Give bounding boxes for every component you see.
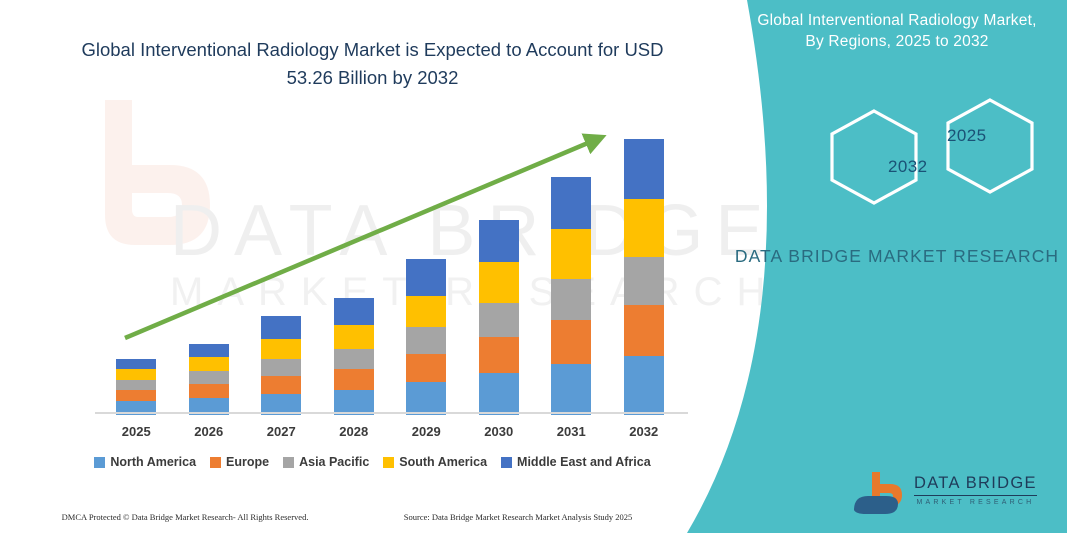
bar-segment [116, 359, 156, 369]
bar-segment [624, 139, 664, 199]
bar-segment [261, 316, 301, 339]
x-axis-labels: 20252026202720282029203020312032 [100, 424, 680, 444]
legend-item[interactable]: North America [94, 455, 196, 469]
bar-segment [624, 356, 664, 415]
legend-swatch-icon [94, 457, 105, 468]
bar-segment [189, 357, 229, 371]
stacked-bar-chart [100, 120, 680, 415]
bar-segment [261, 359, 301, 376]
panel-brand-name: DATA BRIDGE MARKET RESEARCH [727, 243, 1067, 269]
hexagon-label-2025: 2025 [947, 126, 986, 146]
bar-column-2030[interactable] [479, 120, 519, 415]
side-panel: Global Interventional Radiology Market, … [687, 0, 1067, 533]
footer-bar: DMCA Protected © Data Bridge Market Rese… [0, 507, 694, 527]
x-axis-label-2030: 2030 [479, 424, 519, 444]
bar-segment [334, 349, 374, 369]
legend-label: Asia Pacific [299, 455, 369, 469]
bar-segment [406, 382, 446, 415]
legend-item[interactable]: Asia Pacific [283, 455, 369, 469]
bar-column-2027[interactable] [261, 120, 301, 415]
x-axis-label-2029: 2029 [406, 424, 446, 444]
bar-segment [189, 344, 229, 357]
data-bridge-logo-icon [852, 470, 910, 518]
x-axis-label-2028: 2028 [334, 424, 374, 444]
hexagon-badges: 2025 2032 [742, 95, 1062, 205]
bar-segment [551, 364, 591, 415]
bar-segment [406, 354, 446, 382]
bar-segment [189, 384, 229, 398]
x-axis-line [95, 412, 688, 414]
bar-segment [261, 339, 301, 359]
bar-segment [334, 298, 374, 325]
legend-item[interactable]: Middle East and Africa [501, 455, 651, 469]
bar-segment [479, 337, 519, 373]
bar-segment [624, 199, 664, 257]
bar-segment [406, 327, 446, 354]
bar-segment [624, 257, 664, 305]
logo-tagline: MARKET RESEARCH [914, 499, 1037, 506]
bar-segment [116, 380, 156, 390]
infographic-canvas: DATA BRIDGE MARKET RESEARCH Global Inter… [0, 0, 1067, 533]
bar-segment [189, 371, 229, 384]
bar-segment [479, 220, 519, 262]
bar-segment [334, 325, 374, 349]
bar-segment [406, 296, 446, 327]
x-axis-label-2031: 2031 [551, 424, 591, 444]
hexagon-outline-icon [742, 95, 1062, 205]
bar-column-2028[interactable] [334, 120, 374, 415]
x-axis-label-2026: 2026 [189, 424, 229, 444]
bar-segment [624, 305, 664, 356]
x-axis-label-2032: 2032 [624, 424, 664, 444]
bar-column-2031[interactable] [551, 120, 591, 415]
chart-legend: North AmericaEuropeAsia PacificSouth Ame… [60, 455, 685, 469]
logo-name: DATA BRIDGE [914, 474, 1037, 496]
panel-title: Global Interventional Radiology Market, … [747, 10, 1047, 53]
bar-segment [551, 320, 591, 364]
legend-label: North America [110, 455, 196, 469]
legend-swatch-icon [501, 457, 512, 468]
bar-segment [551, 279, 591, 320]
chart-plot-area [100, 120, 680, 415]
bar-segment [479, 262, 519, 303]
bar-column-2026[interactable] [189, 120, 229, 415]
bar-segment [479, 303, 519, 337]
x-axis-label-2027: 2027 [261, 424, 301, 444]
bar-segment [261, 376, 301, 394]
footer-source: Source: Data Bridge Market Research Mark… [404, 512, 633, 522]
legend-item[interactable]: South America [383, 455, 487, 469]
bar-column-2032[interactable] [624, 120, 664, 415]
bar-segment [551, 177, 591, 229]
legend-label: Europe [226, 455, 269, 469]
legend-swatch-icon [383, 457, 394, 468]
bar-segment [479, 373, 519, 415]
legend-swatch-icon [210, 457, 221, 468]
bar-column-2029[interactable] [406, 120, 446, 415]
hexagon-label-2032: 2032 [888, 157, 927, 177]
legend-swatch-icon [283, 457, 294, 468]
logo-wordmark: DATA BRIDGE MARKET RESEARCH [914, 474, 1037, 506]
bar-segment [116, 390, 156, 401]
bar-segment [551, 229, 591, 279]
legend-label: South America [399, 455, 487, 469]
x-axis-label-2025: 2025 [116, 424, 156, 444]
bar-column-2025[interactable] [116, 120, 156, 415]
brand-logo: DATA BRIDGE MARKET RESEARCH [852, 468, 1052, 520]
footer-copyright: DMCA Protected © Data Bridge Market Rese… [62, 512, 309, 522]
legend-label: Middle East and Africa [517, 455, 651, 469]
page-title: Global Interventional Radiology Market i… [60, 36, 685, 92]
legend-item[interactable]: Europe [210, 455, 269, 469]
hexagon-2025-shape [948, 100, 1032, 192]
bar-segment [334, 369, 374, 390]
bar-segment [116, 369, 156, 380]
bar-segment [406, 259, 446, 296]
